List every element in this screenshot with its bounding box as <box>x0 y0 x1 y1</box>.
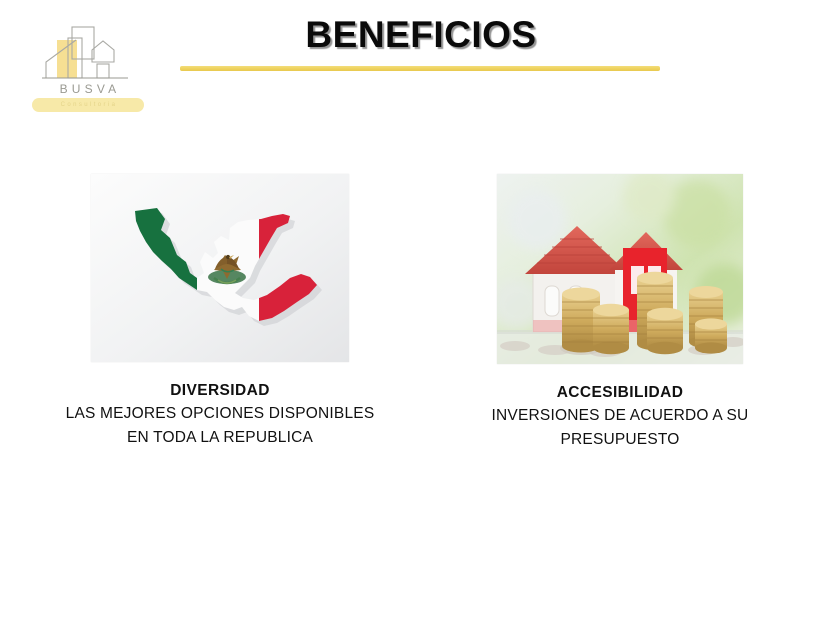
benefit-caption-accesibilidad: ACCESIBILIDAD INVERSIONES DE ACUERDO A S… <box>420 382 820 453</box>
mexico-map-flag-photo <box>91 174 349 362</box>
logo-tagline: Consultoria <box>59 102 118 108</box>
benefit-body: LAS MEJORES OPCIONES DISPONIBLES EN TODA… <box>20 402 420 450</box>
benefit-heading: ACCESIBILIDAD <box>420 382 820 404</box>
abstract-buildings-logo-icon <box>28 22 148 84</box>
company-logo[interactable]: BUSVA Consultoria <box>28 22 148 122</box>
benefit-caption-diversidad: DIVERSIDAD LAS MEJORES OPCIONES DISPONIB… <box>20 380 420 451</box>
title-underline-rule <box>180 66 660 71</box>
benefit-heading: DIVERSIDAD <box>20 380 420 402</box>
benefit-column-accesibilidad: ACCESIBILIDAD INVERSIONES DE ACUERDO A S… <box>420 174 820 453</box>
logo-tagline-pill: Consultoria <box>32 98 144 112</box>
benefit-body: INVERSIONES DE ACUERDO A SU PRESUPUESTO <box>420 404 820 452</box>
logo-wordmark: BUSVA <box>28 82 148 96</box>
slide-canvas: BUSVA Consultoria BENEFICIOS <box>0 0 840 630</box>
house-with-coin-stacks-photo <box>497 174 743 364</box>
slide-title: BENEFICIOS <box>180 14 662 56</box>
benefit-column-diversidad: DIVERSIDAD LAS MEJORES OPCIONES DISPONIB… <box>20 174 420 451</box>
